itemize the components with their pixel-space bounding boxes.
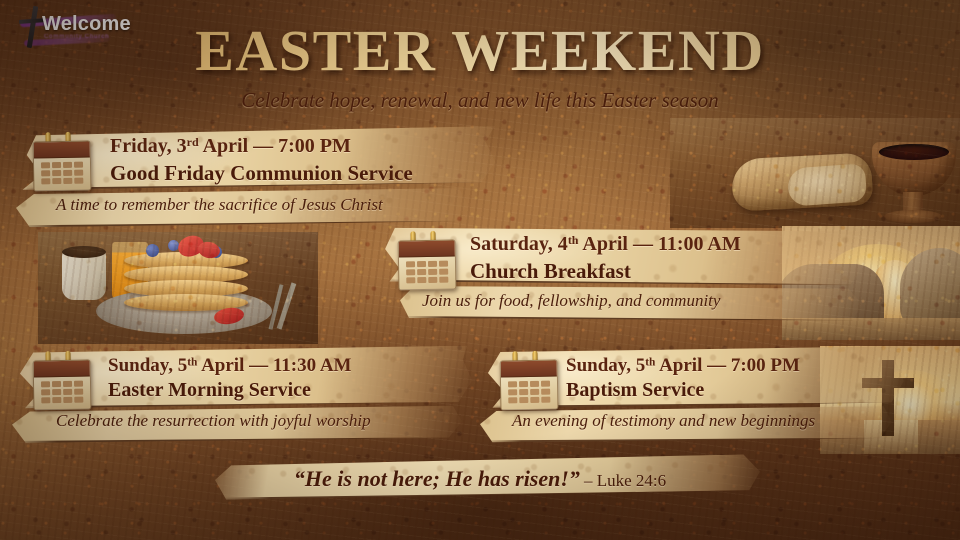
event-3-datetime: Sunday, 5th April — 11:30 AM — [108, 355, 352, 377]
event-3-description: Celebrate the resurrection with joyful w… — [56, 411, 371, 431]
calendar-icon — [33, 137, 90, 190]
event-1-title: Good Friday Communion Service — [110, 161, 413, 186]
event-2-description: Join us for food, fellowship, and commun… — [422, 291, 720, 311]
event-1-datetime: Friday, 3rd April — 7:00 PM — [110, 135, 351, 158]
event-1-description: A time to remember the sacrifice of Jesu… — [56, 195, 383, 215]
calendar-icon — [398, 236, 455, 289]
calendar-icon — [33, 356, 90, 409]
pancake-breakfast-photo — [38, 232, 318, 344]
page-subtitle: Celebrate hope, renewal, and new life th… — [0, 88, 960, 113]
event-4-description: An evening of testimony and new beginnin… — [512, 411, 815, 431]
quote-text: “He is not here; He has risen!” — [294, 466, 580, 491]
event-4-title: Baptism Service — [566, 379, 704, 402]
quote: “He is not here; He has risen!” – Luke 2… — [0, 466, 960, 492]
calendar-icon — [500, 356, 557, 409]
page-title: EASTER WEEKEND — [0, 22, 960, 80]
event-4-datetime: Sunday, 5th April — 7:00 PM — [566, 355, 800, 377]
event-2-title: Church Breakfast — [470, 259, 631, 284]
quote-reference: – Luke 24:6 — [584, 471, 666, 490]
communion-bread-and-chalice-photo — [670, 118, 960, 228]
easter-weekend-poster: Welcome Community Church EASTER WEEKEND … — [0, 0, 960, 540]
event-2-datetime: Saturday, 4th April — 11:00 AM — [470, 233, 741, 256]
event-3-title: Easter Morning Service — [108, 379, 311, 402]
